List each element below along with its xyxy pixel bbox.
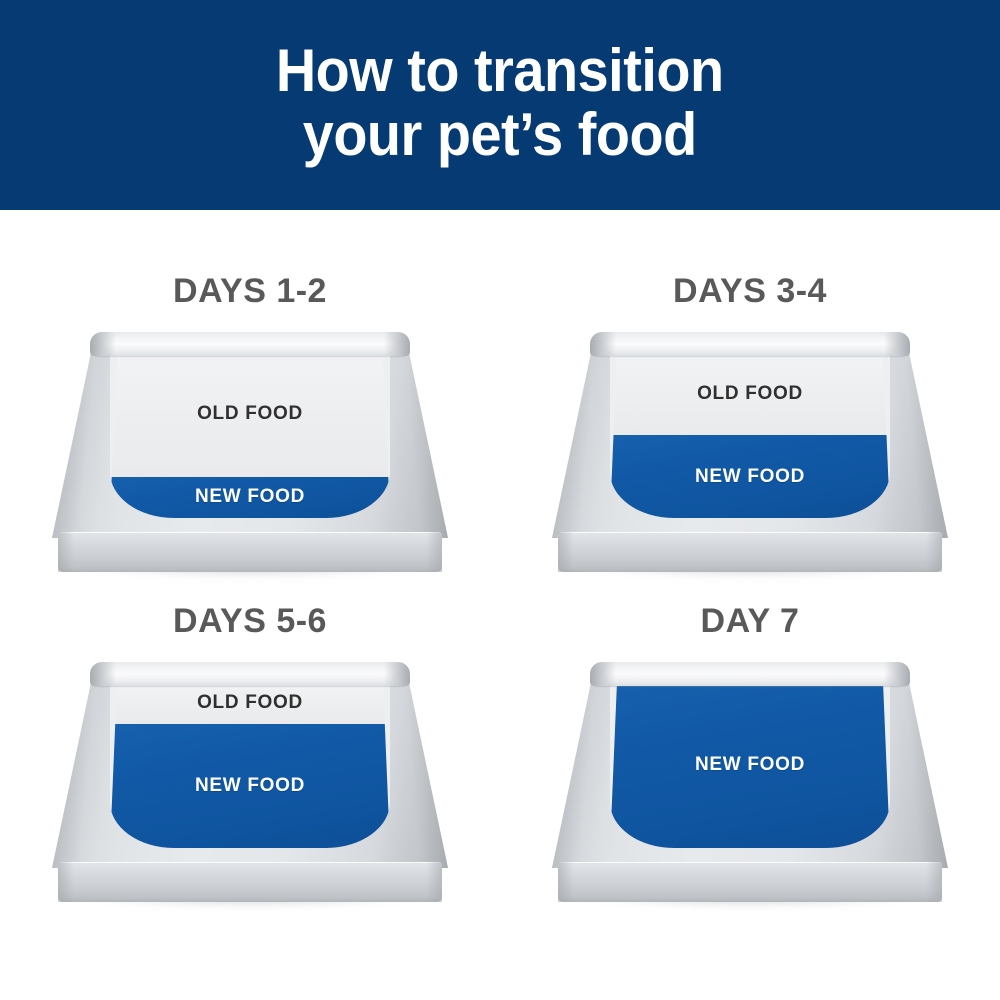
step-card-days-3-4: DAYS 3-4 OLD FOOD NEW FOOD <box>500 210 1000 580</box>
new-food-portion: NEW FOOD <box>110 477 390 519</box>
step-label-day-7: DAY 7 <box>500 602 1000 641</box>
step-card-days-1-2: DAYS 1-2 OLD FOOD NEW FOOD <box>0 210 500 580</box>
bowl-base <box>558 862 942 902</box>
food-bowl-days-5-6: OLD FOOD NEW FOOD <box>52 662 448 902</box>
bowl-rim <box>593 662 907 686</box>
step-card-day-7: DAY 7 NEW FOOD <box>500 580 1000 940</box>
bowl-base <box>558 532 942 572</box>
old-food-label: OLD FOOD <box>197 692 303 714</box>
infographic-poster: How to transition your pet’s food DAYS 1… <box>0 0 1000 1000</box>
new-food-portion: NEW FOOD <box>110 724 390 849</box>
bowl-food-well: OLD FOOD NEW FOOD <box>110 682 390 848</box>
old-food-label: OLD FOOD <box>197 403 303 425</box>
bowl-food-well: OLD FOOD NEW FOOD <box>110 352 390 518</box>
step-label-days-3-4: DAYS 3-4 <box>500 272 1000 311</box>
new-food-label: NEW FOOD <box>695 754 805 776</box>
food-bowl-days-1-2: OLD FOOD NEW FOOD <box>52 332 448 572</box>
new-food-portion: NEW FOOD <box>610 682 890 848</box>
new-food-label: NEW FOOD <box>695 466 805 488</box>
bowl-food-well: OLD FOOD NEW FOOD <box>610 352 890 518</box>
bowl-rim <box>93 332 407 356</box>
bowl-rim <box>93 662 407 686</box>
bowl-base <box>58 862 442 902</box>
new-food-label: NEW FOOD <box>195 486 305 508</box>
page-title: How to transition your pet’s food <box>276 39 724 171</box>
bowl-base <box>58 532 442 572</box>
food-bowl-days-3-4: OLD FOOD NEW FOOD <box>552 332 948 572</box>
old-food-portion: OLD FOOD <box>610 352 890 435</box>
bowl-food-well: NEW FOOD <box>610 682 890 848</box>
food-bowl-day-7: NEW FOOD <box>552 662 948 902</box>
new-food-label: NEW FOOD <box>195 775 305 797</box>
old-food-portion: OLD FOOD <box>110 682 390 724</box>
new-food-portion: NEW FOOD <box>610 435 890 518</box>
bowl-rim <box>593 332 907 356</box>
steps-grid: DAYS 1-2 OLD FOOD NEW FOOD <box>0 210 1000 1000</box>
old-food-portion: OLD FOOD <box>110 352 390 477</box>
old-food-label: OLD FOOD <box>697 383 803 405</box>
step-card-days-5-6: DAYS 5-6 OLD FOOD NEW FOOD <box>0 580 500 940</box>
header-banner: How to transition your pet’s food <box>0 0 1000 210</box>
step-label-days-5-6: DAYS 5-6 <box>0 602 500 641</box>
step-label-days-1-2: DAYS 1-2 <box>0 272 500 311</box>
